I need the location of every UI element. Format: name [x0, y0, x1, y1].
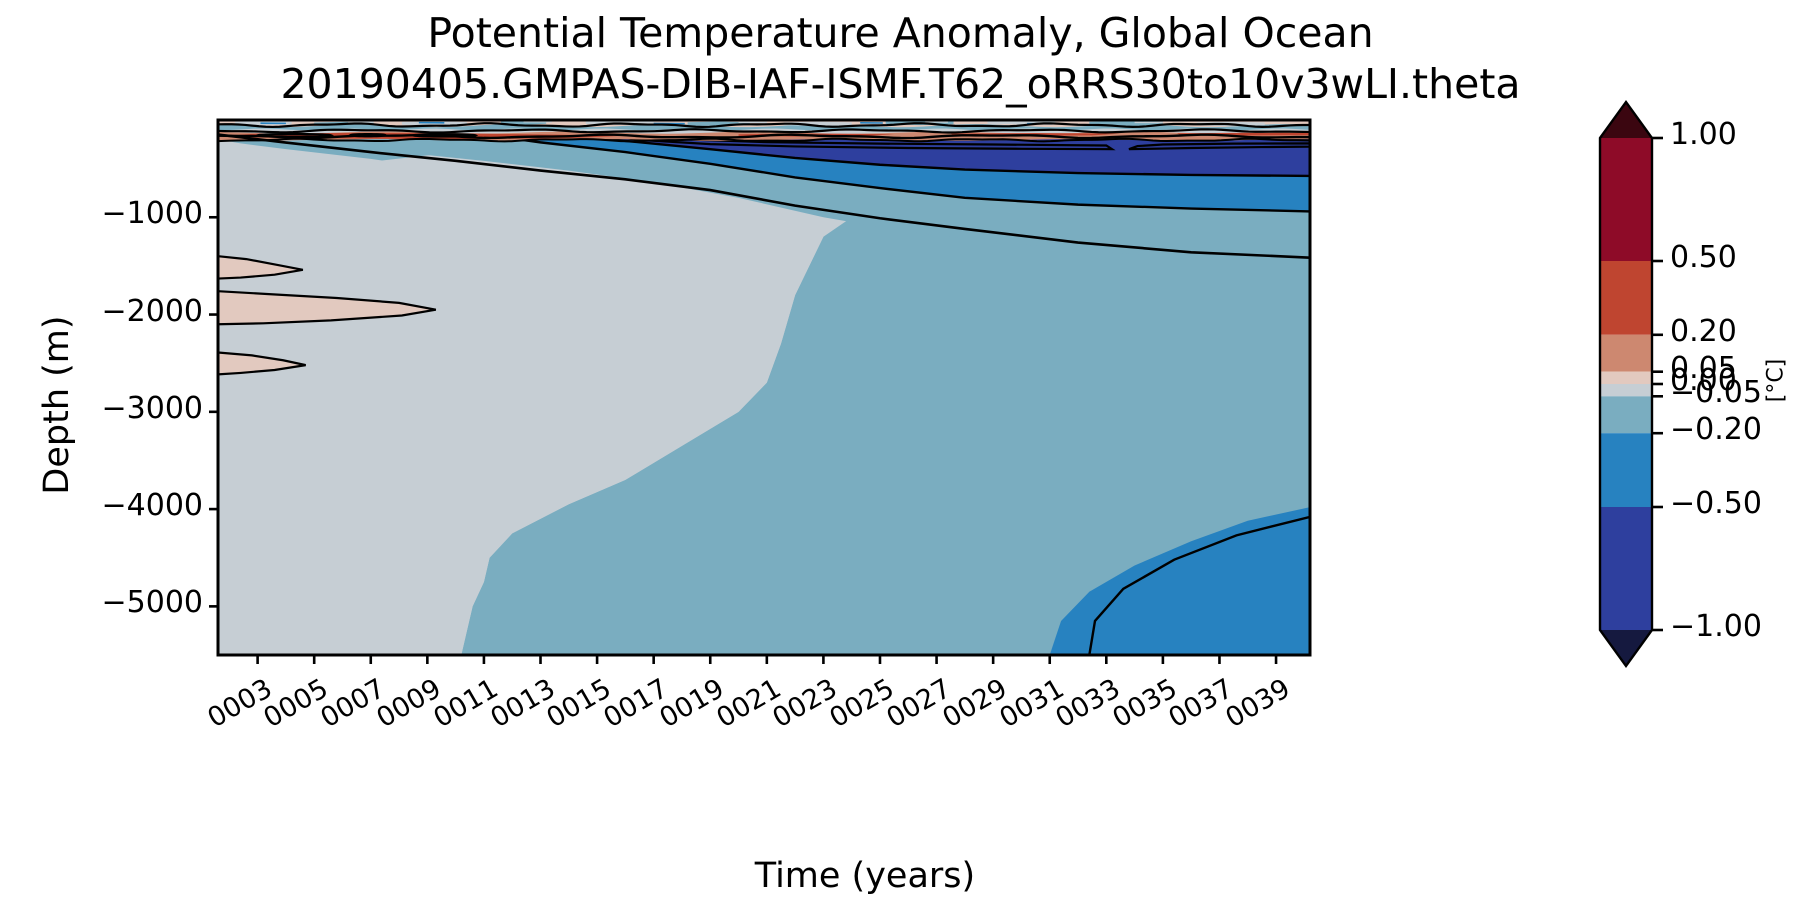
colorbar-tick-label: −1.00: [1670, 609, 1762, 644]
colorbar: [1600, 102, 1663, 666]
colorbar-tick-label: 0.20: [1670, 314, 1737, 349]
colorbar-tick-label: 0.50: [1670, 240, 1737, 275]
colorbar-tick-label: −0.50: [1670, 486, 1762, 521]
colorbar-tick-label: 1.00: [1670, 117, 1737, 152]
y-tick-label: −1000: [18, 196, 203, 231]
figure-root: Potential Temperature Anomaly, Global Oc…: [0, 0, 1801, 910]
y-tick-label: −2000: [18, 294, 203, 329]
y-tick-label: −4000: [18, 488, 203, 523]
y-tick-label: −3000: [18, 391, 203, 426]
colorbar-tick-label: −0.20: [1670, 412, 1762, 447]
colorbar-tick-label: −0.05: [1670, 375, 1762, 410]
contour-plot: [0, 0, 1801, 910]
y-tick-label: −5000: [18, 585, 203, 620]
